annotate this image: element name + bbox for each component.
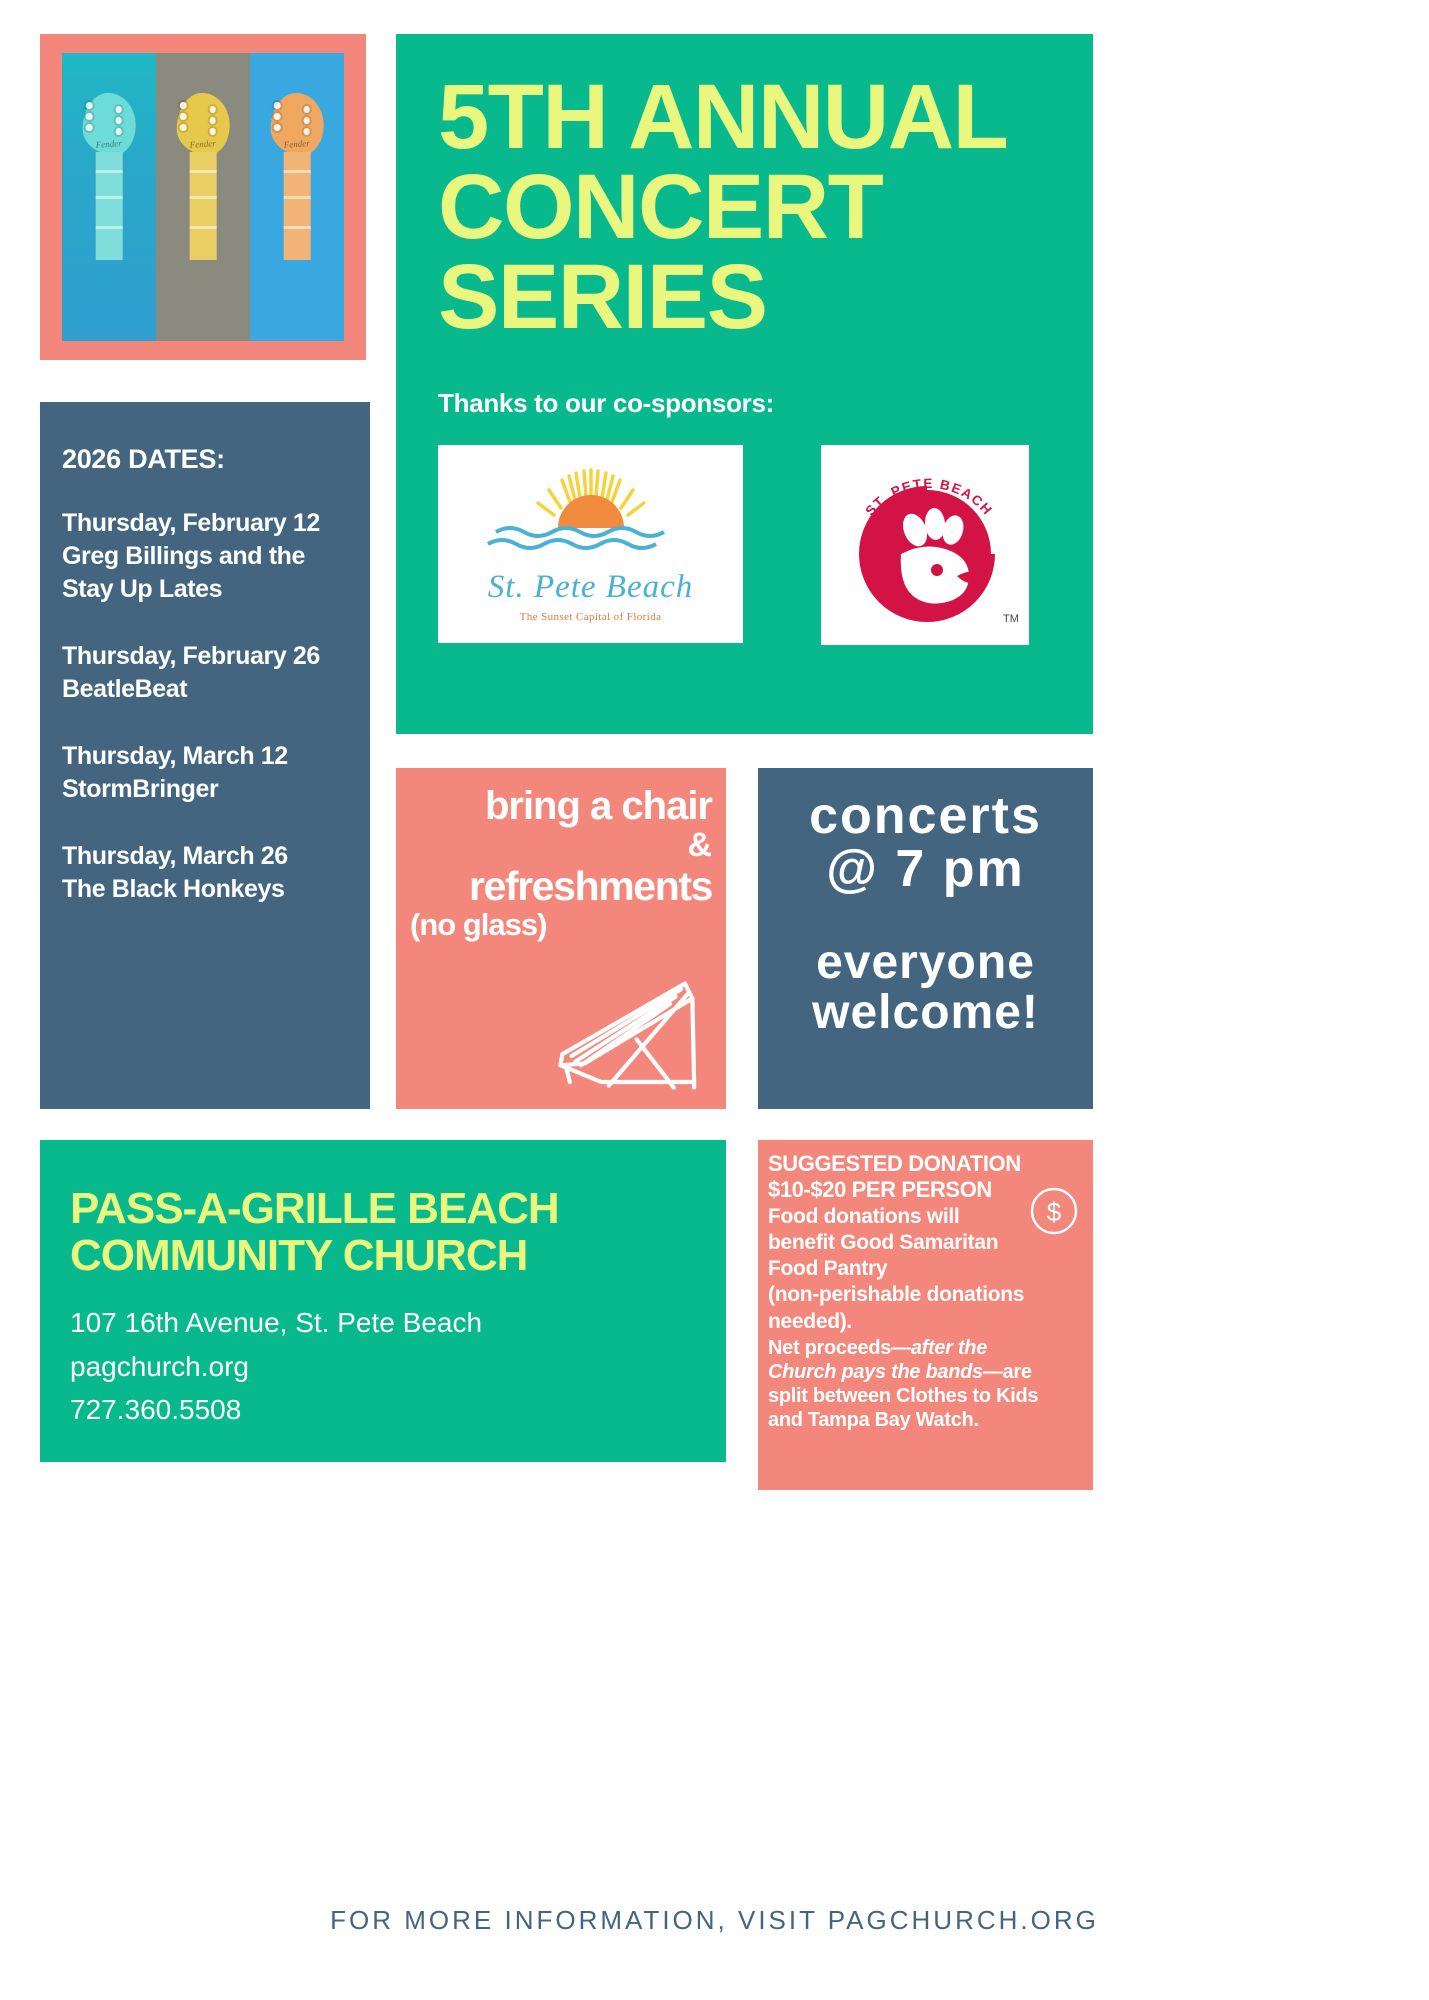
chair-ampersand: & [410, 828, 712, 862]
guitar-strip-blue: Fender [250, 53, 344, 341]
date-entry: Thursday, February 26 BeatleBeat [62, 640, 348, 706]
guitar-photo-frame: Fender [40, 34, 366, 360]
sponsor-tagline: The Sunset Capital of Florida [438, 611, 743, 623]
date-label: Thursday, March 12 [62, 740, 348, 773]
guitar-strip-olive: Fender [156, 53, 250, 341]
date-label: Thursday, March 26 [62, 840, 348, 873]
guitar-headstock-icon: Fender [177, 93, 230, 260]
donation-panel: SUGGESTED DONATION $10-$20 PER PERSON Fo… [758, 1140, 1093, 1490]
guitar-headstock-icon: Fender [271, 93, 324, 260]
church-info-panel: PASS-A-GRILLE BEACH COMMUNITY CHURCH 107… [40, 1140, 726, 1462]
dates-panel: 2026 DATES: Thursday, February 12 Greg B… [40, 402, 370, 1109]
hero-title-line-2: CONCERT [438, 162, 1051, 252]
band-label: Greg Billings and the [62, 540, 348, 573]
sponsor-logo-chick-fil-a: ST. PETE BEACH TM [821, 445, 1029, 645]
chair-line-1: bring a chair [410, 786, 712, 826]
sunset-waves-icon [466, 466, 716, 562]
dollar-circle-icon: $ [1029, 1186, 1079, 1236]
concerts-line-4: welcome! [774, 988, 1077, 1038]
church-contact: 107 16th Avenue, St. Pete Beach pagchurc… [70, 1301, 696, 1431]
date-entry: Thursday, March 12 StormBringer [62, 740, 348, 806]
bring-a-chair-panel: bring a chair & refreshments (no glass) [396, 768, 726, 1109]
chick-fil-a-icon: ST. PETE BEACH TM [827, 450, 1023, 640]
trademark-label: TM [1003, 613, 1019, 625]
band-label-2: Stay Up Lates [62, 573, 348, 606]
church-name: PASS-A-GRILLE BEACH COMMUNITY CHURCH [70, 1186, 696, 1279]
hero-title-line-3: SERIES [438, 252, 1051, 342]
band-label: BeatleBeat [62, 673, 348, 706]
page-title: 5TH ANNUAL CONCERT SERIES [438, 72, 1051, 342]
net-post-2: split between Clothes to Kids [768, 1385, 1038, 1407]
sponsor-logo-st-pete-beach: St. Pete Beach The Sunset Capital of Flo… [438, 445, 743, 643]
chair-line-3: (no glass) [410, 909, 712, 940]
beach-chair-icon [552, 965, 712, 1095]
church-name-line-1: PASS-A-GRILLE BEACH [70, 1186, 696, 1233]
footer-text: FOR MORE INFORMATION, VISIT PAGCHURCH.OR… [0, 1905, 1429, 1936]
donation-body-4: (non-perishable donations [768, 1282, 1085, 1307]
net-em-2: Church pays the bands [768, 1361, 983, 1383]
svg-text:$: $ [1047, 1197, 1062, 1227]
concerts-line-3: everyone [774, 938, 1077, 988]
donation-body-3: Food Pantry [768, 1256, 1085, 1281]
church-address: 107 16th Avenue, St. Pete Beach [70, 1301, 696, 1344]
cosponsors-label: Thanks to our co-sponsors: [438, 388, 1051, 419]
date-label: Thursday, February 12 [62, 507, 348, 540]
dates-title: 2026 DATES: [62, 444, 348, 475]
sponsor-name: St. Pete Beach [438, 569, 743, 606]
concert-info-panel: concerts @ 7 pm everyone welcome! [758, 768, 1093, 1109]
donation-net-proceeds: Net proceeds—after the Church pays the b… [768, 1336, 1085, 1432]
donation-heading-1: SUGGESTED DONATION [768, 1151, 1085, 1177]
net-pre: Net proceeds— [768, 1337, 911, 1359]
band-label: The Black Honkeys [62, 873, 348, 906]
poster-root: Fender [0, 0, 1429, 2000]
church-name-line-2: COMMUNITY CHURCH [70, 1233, 696, 1280]
donation-body-5: needed). [768, 1309, 1085, 1334]
concerts-line-1: concerts [774, 790, 1077, 843]
date-entry: Thursday, March 26 The Black Honkeys [62, 840, 348, 906]
guitar-strip-teal: Fender [62, 53, 156, 341]
net-post-3: and Tampa Bay Watch. [768, 1409, 979, 1431]
sponsor-row: St. Pete Beach The Sunset Capital of Flo… [438, 445, 1051, 645]
guitar-photo: Fender [62, 53, 344, 341]
net-em-1: after the [911, 1337, 987, 1359]
church-website[interactable]: pagchurch.org [70, 1345, 696, 1388]
date-entry: Thursday, February 12 Greg Billings and … [62, 507, 348, 606]
hero-panel: 5TH ANNUAL CONCERT SERIES Thanks to our … [396, 34, 1093, 734]
band-label: StormBringer [62, 773, 348, 806]
date-label: Thursday, February 26 [62, 640, 348, 673]
guitar-headstock-icon: Fender [83, 93, 136, 260]
concerts-line-2: @ 7 pm [774, 843, 1077, 896]
net-post-1: —are [983, 1361, 1032, 1383]
church-phone[interactable]: 727.360.5508 [70, 1388, 696, 1431]
chair-line-2: refreshments [410, 866, 712, 907]
hero-title-line-1: 5TH ANNUAL [438, 72, 1051, 162]
